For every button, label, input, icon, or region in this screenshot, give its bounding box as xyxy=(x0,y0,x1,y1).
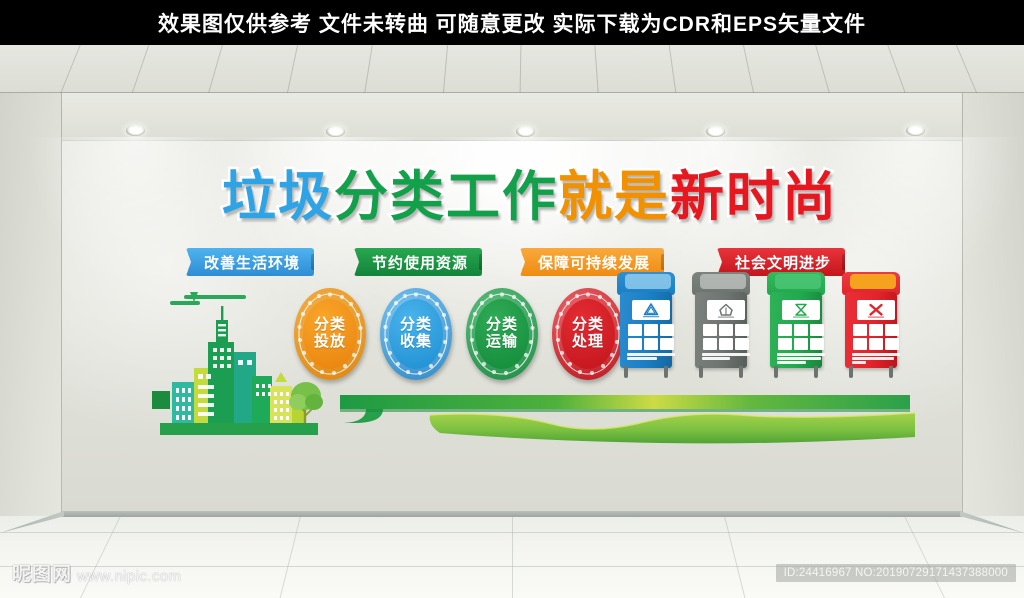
badge-inner: 分类 处理 xyxy=(561,299,615,369)
top-disclaimer-banner: 效果图仅供参考 文件未转曲 可随意更改 实际下载为CDR和EPS矢量文件 xyxy=(0,0,1024,45)
site-name-cn: 昵图网 xyxy=(12,559,72,586)
bin-caption-microtext xyxy=(777,353,825,364)
bin-lid-top xyxy=(625,274,671,289)
badge-inner: 分类 收集 xyxy=(389,299,443,369)
bin-item-icon-grid xyxy=(778,324,824,350)
ceiling-spotlight xyxy=(706,126,725,137)
headline: 垃圾分类工作就是新时尚 xyxy=(150,170,910,224)
bin-caption-microtext xyxy=(702,353,750,364)
room-render: 垃圾分类工作就是新时尚 改善生活环境 节约使用资源 保障可持续发展 社会文明进步 xyxy=(0,45,1024,598)
ceiling xyxy=(0,45,1024,93)
bin-item-icon-grid xyxy=(853,324,899,350)
site-watermark: 昵图网 www.nipic.com xyxy=(12,559,181,586)
badge-line1: 分类 xyxy=(572,317,604,334)
bin-body xyxy=(770,292,822,368)
ceiling-spotlight xyxy=(326,126,345,137)
ceiling-spotlight xyxy=(906,125,925,136)
bin-lid-top xyxy=(775,274,821,289)
screenshot-root: 效果图仅供参考 文件未转曲 可随意更改 实际下载为CDR和EPS矢量文件 xyxy=(0,0,1024,598)
bin-body xyxy=(695,292,747,368)
hourglass-icon xyxy=(786,302,816,319)
bin-item-icon-grid xyxy=(703,324,749,350)
ceiling-spotlight xyxy=(516,126,535,137)
bin-label-plate xyxy=(782,300,820,320)
badge-line2: 收集 xyxy=(400,334,432,351)
headline-segment-blue: 垃圾 xyxy=(222,170,334,224)
bin-lid-top xyxy=(700,274,746,289)
green-wave-ribbon xyxy=(140,365,915,445)
badge-line2: 运输 xyxy=(486,334,518,351)
x-cross-icon xyxy=(861,302,891,319)
headline-segment-red: 新时尚 xyxy=(670,170,838,224)
badge-inner: 分类 运输 xyxy=(475,299,529,369)
pentagon-leaf-icon xyxy=(711,302,741,319)
site-url-text: www.nipic.com xyxy=(77,568,181,586)
bin-label-plate xyxy=(632,300,670,320)
bin-caption-microtext xyxy=(627,353,675,364)
badge-line2: 处理 xyxy=(572,334,604,351)
bin-label-plate xyxy=(857,300,895,320)
ceiling-spotlight xyxy=(126,125,145,136)
bin-label-plate xyxy=(707,300,745,320)
badge-line1: 分类 xyxy=(400,317,432,334)
headline-segment-orange: 就是 xyxy=(558,170,670,224)
sub-banner-save-resources: 节约使用资源 xyxy=(354,248,482,276)
recycling-triangle-icon xyxy=(636,302,666,319)
bin-lid-top xyxy=(850,274,896,289)
badge-line1: 分类 xyxy=(486,317,518,334)
bin-caption-microtext xyxy=(852,353,900,364)
bin-body xyxy=(620,292,672,368)
wall-graphic: 垃圾分类工作就是新时尚 改善生活环境 节约使用资源 保障可持续发展 社会文明进步 xyxy=(150,160,910,445)
headline-segment-green: 分类工作 xyxy=(334,170,558,224)
bin-body xyxy=(845,292,897,368)
asset-id-watermark: ID:24416967 NO:20190729171437388000 xyxy=(776,564,1016,582)
bin-item-icon-grid xyxy=(628,324,674,350)
ceiling-soffit xyxy=(0,93,1024,141)
baseboard-back xyxy=(62,511,962,517)
sub-banner-improve-environment: 改善生活环境 xyxy=(186,248,314,276)
